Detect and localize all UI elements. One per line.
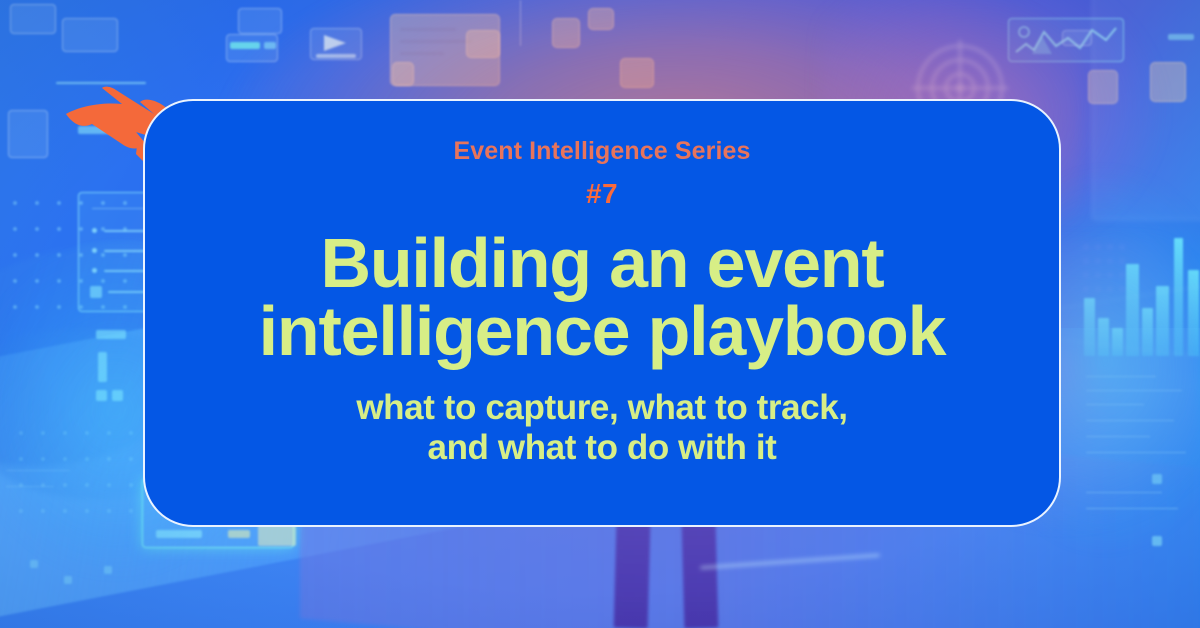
banner-canvas: Event Intelligence Series #7 Building an…: [0, 0, 1200, 628]
series-eyebrow: Event Intelligence Series: [453, 139, 750, 164]
page-subtitle-line-1: what to capture, what to track,: [356, 388, 847, 427]
page-subtitle-line-2: and what to do with it: [428, 428, 777, 467]
page-subtitle: what to capture, what to track, and what…: [356, 388, 847, 469]
issue-number: #7: [586, 180, 618, 208]
page-title: Building an event intelligence playbook: [182, 230, 1022, 366]
content-card: Event Intelligence Series #7 Building an…: [143, 99, 1061, 527]
